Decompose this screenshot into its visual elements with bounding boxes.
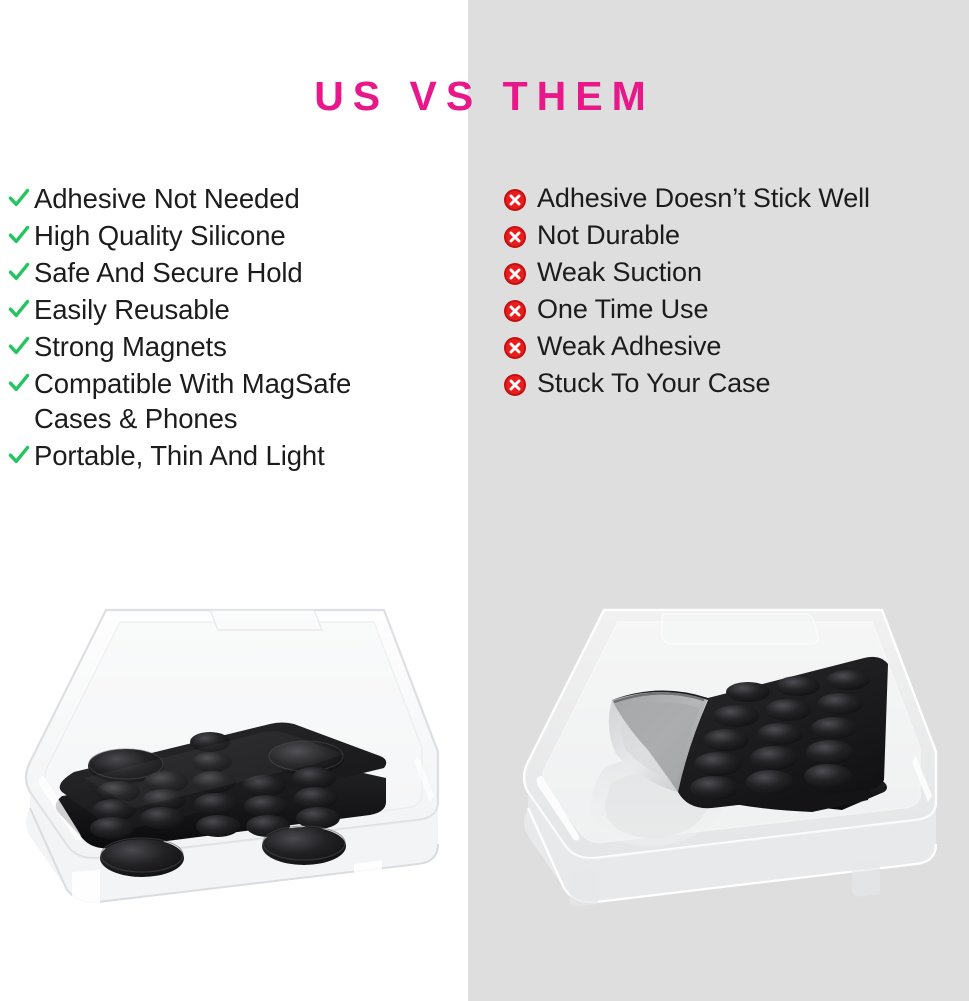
list-item: Easily Reusable — [8, 292, 460, 327]
green-check-icon — [8, 438, 34, 466]
green-check-icon — [8, 181, 34, 209]
green-check-icon — [8, 218, 34, 246]
list-item-label: Easily Reusable — [34, 292, 230, 327]
list-item: Stuck To Your Case — [503, 366, 963, 401]
product-image-us — [14, 596, 454, 912]
product-image-them — [512, 596, 952, 912]
list-item-label: Adhesive Doesn’t Stick Well — [537, 181, 870, 216]
list-item-label: Stuck To Your Case — [537, 366, 770, 401]
list-item-label: High Quality Silicone — [34, 218, 286, 253]
list-item: Adhesive Doesn’t Stick Well — [503, 181, 963, 216]
page-title: US VS THEM — [0, 76, 969, 117]
list-item: Not Durable — [503, 218, 963, 253]
list-item-label: Compatible With MagSafe Cases & Phones — [34, 366, 351, 436]
list-item: Compatible With MagSafe Cases & Phones — [8, 366, 460, 436]
list-item-label: Strong Magnets — [34, 329, 227, 364]
list-item-label: Portable, Thin And Light — [34, 438, 325, 473]
list-item: Strong Magnets — [8, 329, 460, 364]
list-item-label: Weak Suction — [537, 255, 702, 290]
list-item: One Time Use — [503, 292, 963, 327]
list-item: Weak Suction — [503, 255, 963, 290]
green-check-icon — [8, 329, 34, 357]
list-item: Adhesive Not Needed — [8, 181, 460, 216]
comparison-infographic: US VS THEM Adhesive Not Needed High Qual… — [0, 0, 969, 1001]
list-item: Weak Adhesive — [503, 329, 963, 364]
red-cross-icon — [503, 181, 537, 212]
list-item-label: Adhesive Not Needed — [34, 181, 300, 216]
red-cross-icon — [503, 366, 537, 397]
list-item: High Quality Silicone — [8, 218, 460, 253]
green-check-icon — [8, 292, 34, 320]
list-item-label: Safe And Secure Hold — [34, 255, 303, 290]
list-item-label: One Time Use — [537, 292, 708, 327]
us-feature-list: Adhesive Not Needed High Quality Silicon… — [8, 181, 460, 475]
red-cross-icon — [503, 255, 537, 286]
green-check-icon — [8, 366, 34, 394]
them-drawback-list: Adhesive Doesn’t Stick Well Not Durable — [503, 181, 963, 403]
list-item: Portable, Thin And Light — [8, 438, 460, 473]
green-check-icon — [8, 255, 34, 283]
list-item: Safe And Secure Hold — [8, 255, 460, 290]
red-cross-icon — [503, 292, 537, 323]
red-cross-icon — [503, 329, 537, 360]
list-item-label: Weak Adhesive — [537, 329, 721, 364]
list-item-label: Not Durable — [537, 218, 680, 253]
red-cross-icon — [503, 218, 537, 249]
